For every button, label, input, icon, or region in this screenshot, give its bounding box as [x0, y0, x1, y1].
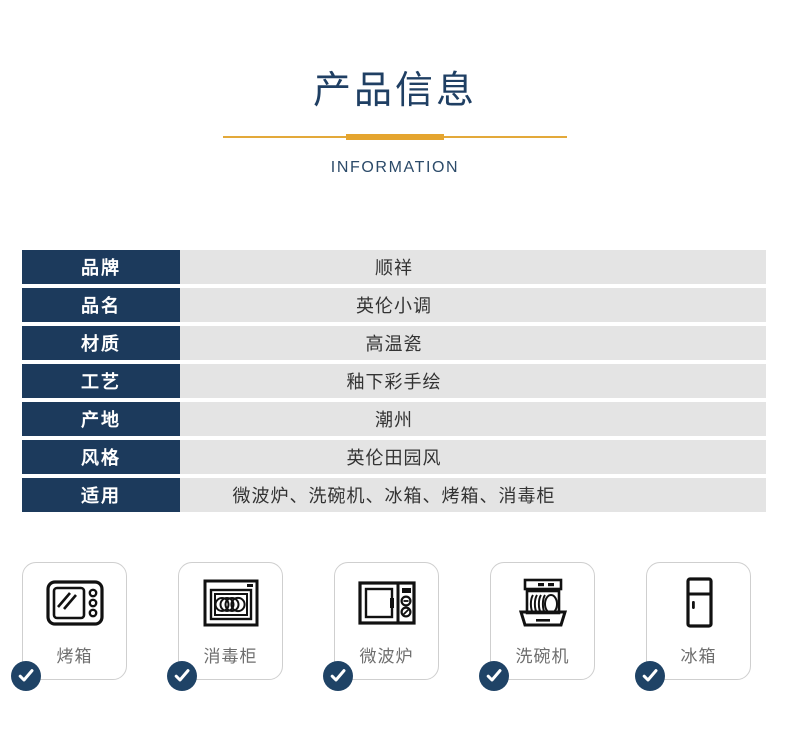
- table-row: 釉下彩手绘 工艺: [22, 364, 766, 398]
- spec-label: 工艺: [22, 364, 180, 398]
- table-row: 微波炉、洗碗机、冰箱、烤箱、消毒柜 适用: [22, 478, 766, 512]
- table-row: 高温瓷 材质: [22, 326, 766, 360]
- page-subtitle: INFORMATION: [0, 158, 790, 178]
- title-divider: [223, 132, 567, 142]
- spec-label: 产地: [22, 402, 180, 436]
- card-label: 微波炉: [335, 642, 438, 667]
- card-label: 冰箱: [647, 642, 750, 667]
- table-row: 顺祥 品牌: [22, 250, 766, 284]
- spec-label: 品名: [22, 288, 180, 322]
- check-badge-icon: [479, 661, 509, 691]
- spec-label: 适用: [22, 478, 180, 512]
- table-row: 英伦小调 品名: [22, 288, 766, 322]
- spec-label: 风格: [22, 440, 180, 474]
- card-label: 烤箱: [23, 642, 126, 667]
- card-label: 消毒柜: [179, 642, 282, 667]
- check-badge-icon: [167, 661, 197, 691]
- compatibility-card-dishwasher: 洗碗机: [490, 562, 595, 680]
- card-label: 洗碗机: [491, 642, 594, 667]
- compatibility-card-oven: 烤箱: [22, 562, 127, 680]
- refrigerator-icon: [668, 577, 730, 629]
- sterilizer-cabinet-icon: [200, 577, 262, 629]
- compatibility-card-refrigerator: 冰箱: [646, 562, 751, 680]
- compatibility-card-sterilizer: 消毒柜: [178, 562, 283, 680]
- microwave-icon: [356, 577, 418, 629]
- check-badge-icon: [323, 661, 353, 691]
- page-header: 产品信息 INFORMATION: [0, 0, 790, 178]
- spec-label: 品牌: [22, 250, 180, 284]
- spec-label: 材质: [22, 326, 180, 360]
- table-row: 英伦田园风 风格: [22, 440, 766, 474]
- compatibility-card-list: 烤箱 消毒柜: [22, 562, 770, 702]
- compatibility-card-microwave: 微波炉: [334, 562, 439, 680]
- check-badge-icon: [635, 661, 665, 691]
- oven-icon: [44, 577, 106, 629]
- table-row: 潮州 产地: [22, 402, 766, 436]
- product-spec-table: 顺祥 品牌 英伦小调 品名 高温瓷 材质 釉下彩手绘 工艺 潮州 产地 英伦田园…: [22, 250, 766, 516]
- dishwasher-icon: [512, 577, 574, 629]
- check-badge-icon: [11, 661, 41, 691]
- divider-thick-segment: [346, 134, 444, 140]
- page-title: 产品信息: [0, 68, 790, 114]
